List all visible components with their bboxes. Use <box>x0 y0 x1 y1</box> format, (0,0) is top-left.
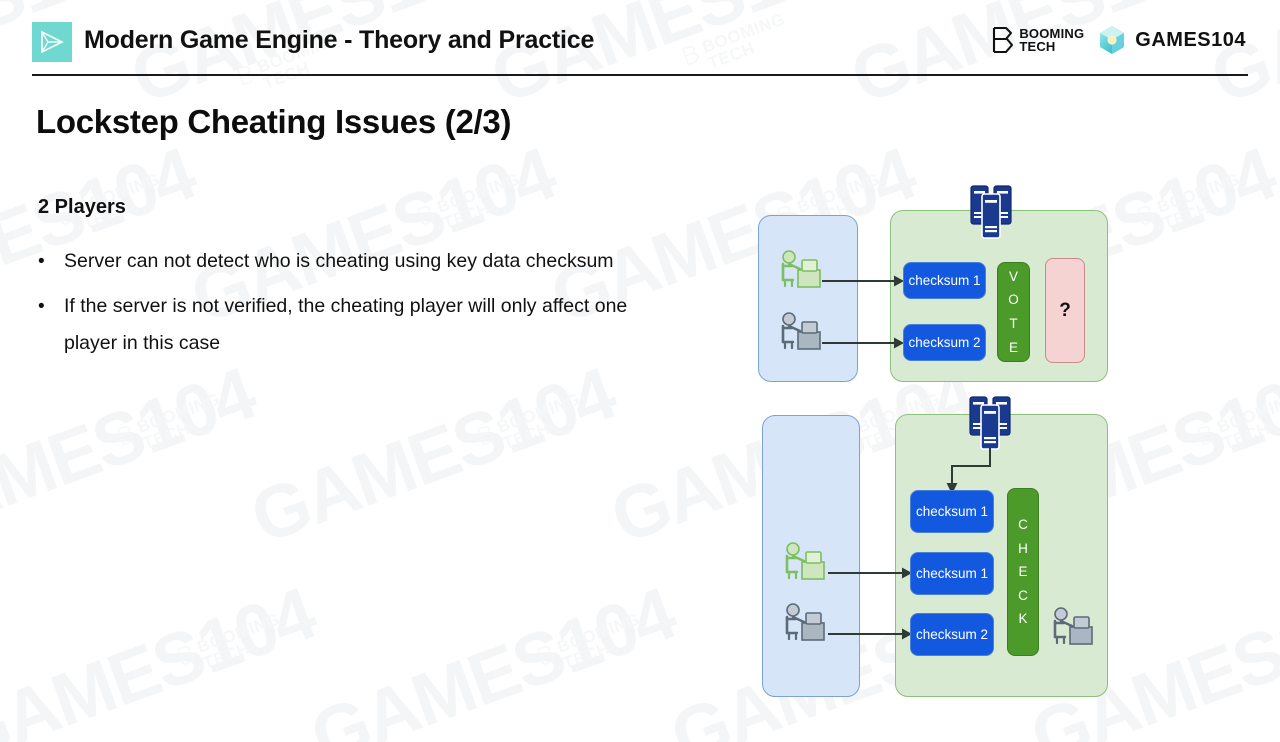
play-triangle-icon <box>39 30 65 54</box>
checksum-box: checksum 1 <box>903 262 986 299</box>
booming-b-icon <box>415 204 437 227</box>
player-gray <box>776 312 824 352</box>
vote-letter: T <box>1009 312 1017 336</box>
player-green <box>776 250 824 290</box>
watermark-booming-tech: BOOMING TECH <box>495 390 588 452</box>
arrow-player2-to-checksum2 <box>822 336 906 350</box>
booming-b-icon <box>475 424 497 447</box>
watermark-booming-line1: BOOMING <box>1215 390 1280 436</box>
watermark-booming-tech: BOOMING TECH <box>435 170 528 232</box>
check-letter: K <box>1018 607 1027 631</box>
vote-letter: O <box>1008 288 1019 312</box>
person-at-desk-icon <box>776 312 824 352</box>
watermark-booming-line1: BOOMING <box>435 170 522 216</box>
check-box: C H E C K <box>1007 488 1039 656</box>
booming-tech-text: BOOMING TECH <box>1019 27 1084 53</box>
page-header: Modern Game Engine - Theory and Practice… <box>0 0 1280 80</box>
watermark-booming-tech: BOOMING TECH <box>1155 170 1248 232</box>
watermark-booming-tech: BOOMING TECH <box>135 390 228 452</box>
server-stack-icon <box>969 182 1013 242</box>
watermark-booming-line2: TECH <box>1161 187 1248 233</box>
booming-tech-logo: BOOMING TECH <box>991 26 1084 54</box>
arrow-player1-to-checksum1 <box>822 274 906 288</box>
clients-panel <box>758 215 858 382</box>
list-item: • If the server is not verified, the che… <box>38 288 678 362</box>
check-letter: E <box>1018 560 1027 584</box>
vote-letter: V <box>1009 265 1018 289</box>
booming-b-icon <box>535 644 557 667</box>
person-at-desk-icon <box>1048 607 1096 647</box>
observer-gray <box>1048 607 1096 647</box>
slide-root: GAMES104 GAMES104 GAMES104 GAMES104 GAME… <box>0 0 1280 742</box>
player-green <box>780 542 828 582</box>
watermark-games104: GAMES104 <box>300 570 685 742</box>
person-at-desk-icon <box>776 250 824 290</box>
watermark-booming-line1: BOOMING <box>555 610 642 656</box>
list-item: • Server can not detect who is cheating … <box>38 243 678 280</box>
person-at-desk-icon <box>780 542 828 582</box>
checksum-box: checksum 1 <box>910 552 994 595</box>
server-stack-icon <box>968 393 1012 453</box>
checksum-box: checksum 1 <box>910 490 994 533</box>
watermark-booming-line2: TECH <box>561 627 648 673</box>
vote-diagram: checksum 1 checksum 2 V O T E ? <box>750 170 1150 390</box>
checksum-box: checksum 2 <box>910 613 994 656</box>
vote-letter: E <box>1009 336 1018 360</box>
watermark-booming-line1: BOOMING <box>135 390 222 436</box>
check-diagram: checksum 1 checksum 1 checksum 2 C H E C… <box>750 385 1150 715</box>
watermark-booming-line2: TECH <box>201 627 288 673</box>
vote-box: V O T E <box>997 262 1030 362</box>
unknown-result-box: ? <box>1045 258 1085 363</box>
player-gray <box>780 603 828 643</box>
games104-cube-icon <box>1097 24 1127 56</box>
watermark-booming-tech: BOOMING TECH <box>195 610 288 672</box>
logo-group: BOOMING TECH <box>991 24 1246 56</box>
watermark-booming-line2: TECH <box>141 407 228 453</box>
watermark-booming-line1: BOOMING <box>495 390 582 436</box>
slide-subheading: 2 Players <box>38 196 126 219</box>
watermark-booming-line2: TECH <box>441 187 528 233</box>
booming-b-icon <box>991 26 1015 54</box>
brand-mark <box>32 22 72 62</box>
bullet-text: Server can not detect who is cheating us… <box>64 243 614 280</box>
arrow-player2-to-checksum2 <box>828 627 914 641</box>
watermark-games104: GAMES104 <box>0 570 325 742</box>
games104-text: GAMES104 <box>1135 29 1246 52</box>
games104-logo: GAMES104 <box>1097 24 1246 56</box>
header-divider <box>32 74 1248 76</box>
bullet-dot-icon: • <box>38 243 64 280</box>
watermark-booming-tech: BOOMING TECH <box>1215 390 1280 452</box>
check-letter: C <box>1018 584 1028 608</box>
watermark-booming-line1: BOOMING <box>195 610 282 656</box>
slide-heading: Lockstep Cheating Issues (2/3) <box>36 103 511 141</box>
page-title: Modern Game Engine - Theory and Practice <box>84 26 594 55</box>
booming-b-icon <box>115 424 137 447</box>
watermark-booming-line2: TECH <box>501 407 588 453</box>
watermark-games104: GAMES104 <box>240 350 625 559</box>
checksum-box: checksum 2 <box>903 324 986 361</box>
booming-b-icon <box>1195 424 1217 447</box>
watermark-booming-line2: TECH <box>1221 407 1280 453</box>
bullet-dot-icon: • <box>38 288 64 325</box>
check-letter: H <box>1018 537 1028 561</box>
person-at-desk-icon <box>780 603 828 643</box>
booming-b-icon <box>175 644 197 667</box>
bullet-list: • Server can not detect who is cheating … <box>38 243 678 370</box>
check-letter: C <box>1018 513 1028 537</box>
watermark-games104: GAMES104 <box>0 350 265 559</box>
watermark-booming-line1: BOOMING <box>1155 170 1242 216</box>
booming-line2: TECH <box>1019 40 1084 53</box>
arrow-player1-to-checksum1 <box>828 566 914 580</box>
bullet-text: If the server is not verified, the cheat… <box>64 288 664 362</box>
watermark-booming-tech: BOOMING TECH <box>555 610 648 672</box>
